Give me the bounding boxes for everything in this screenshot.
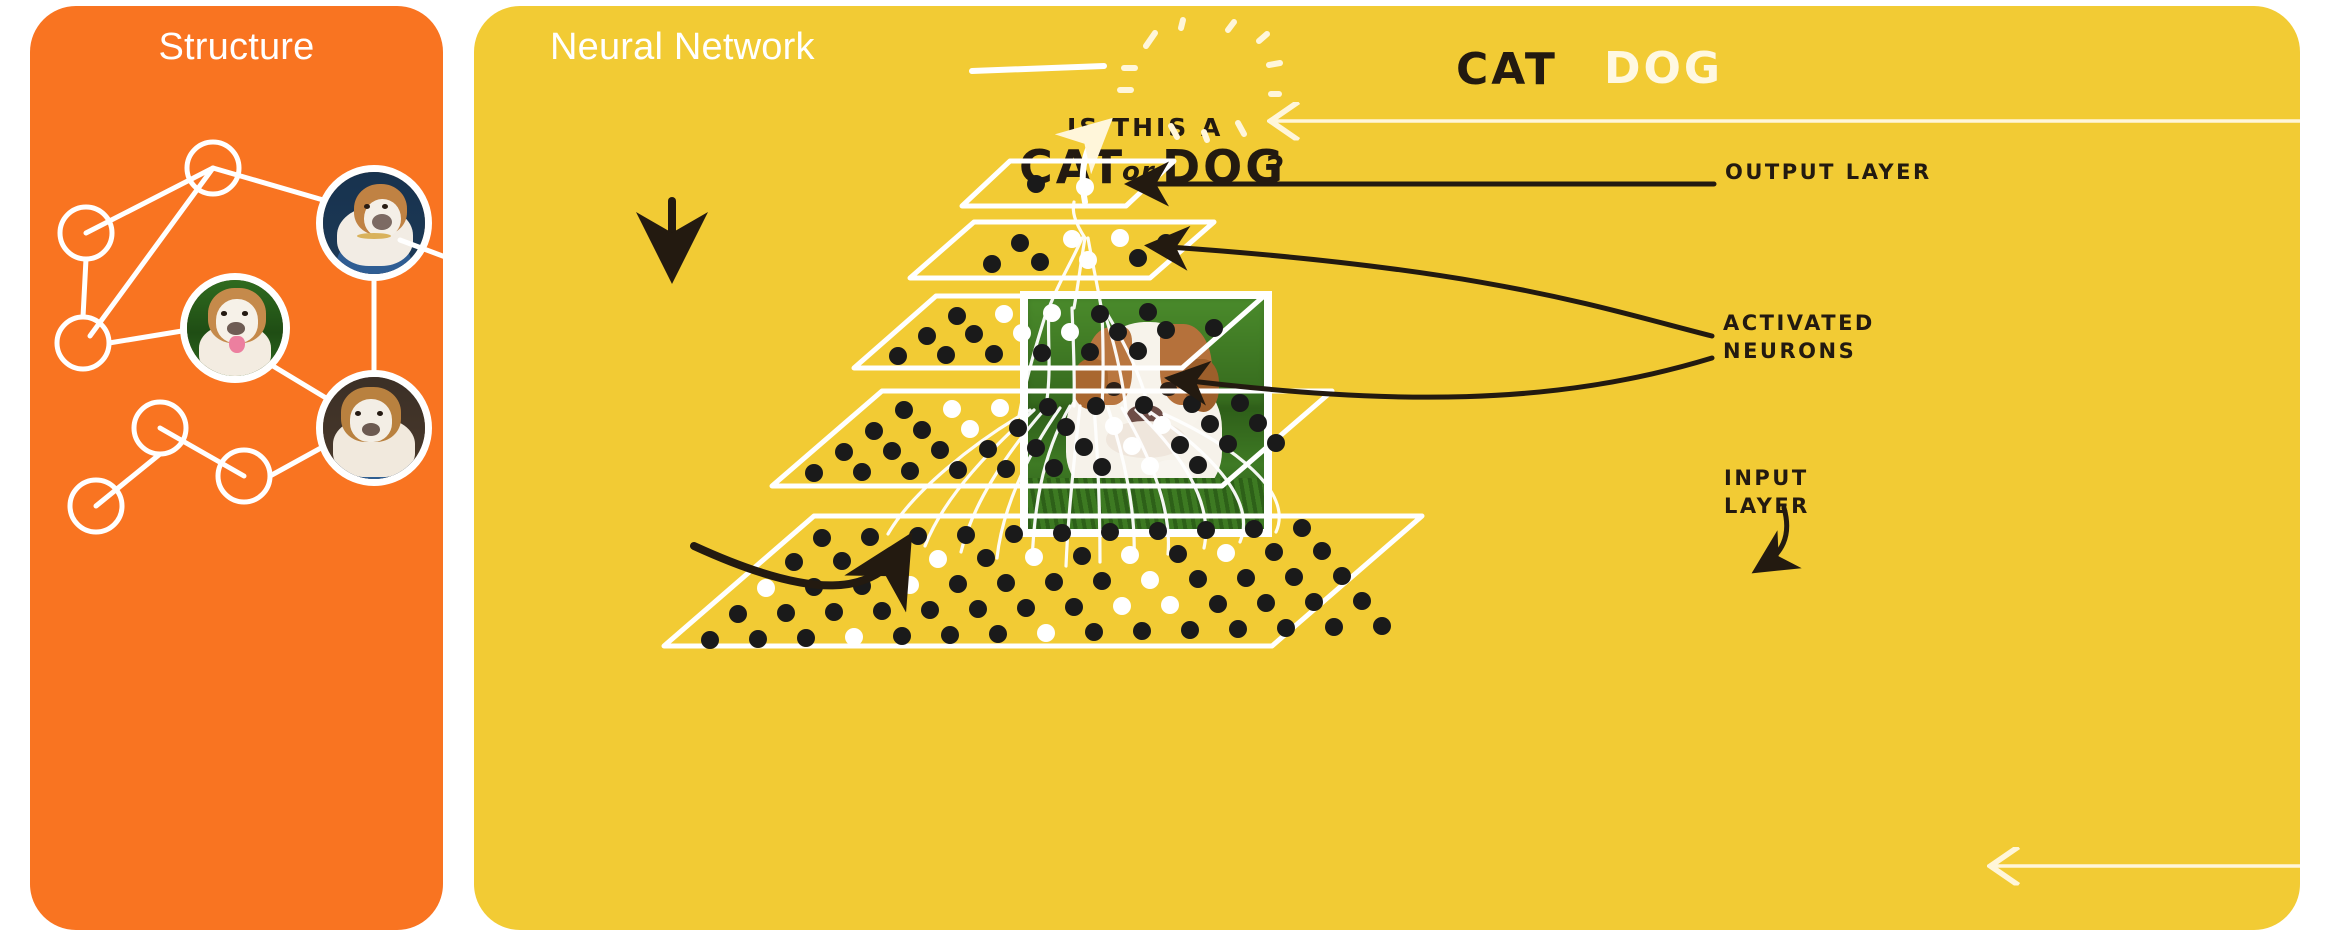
neuron-inactive[interactable] <box>1285 568 1303 586</box>
neuron-inactive[interactable] <box>901 462 919 480</box>
neuron-inactive[interactable] <box>1205 319 1223 337</box>
edge-n2-n3 <box>83 259 86 317</box>
label-input-line1: INPUT <box>1724 465 1810 493</box>
neuron-inactive[interactable] <box>1091 305 1109 323</box>
neuron-inactive[interactable] <box>1011 234 1029 252</box>
neuron-inactive[interactable] <box>1267 434 1285 452</box>
neuron-inactive[interactable] <box>1333 567 1351 585</box>
neuron-inactive[interactable] <box>701 631 719 649</box>
neuron-inactive[interactable] <box>989 625 1007 643</box>
neuron-active[interactable] <box>1153 416 1171 434</box>
neuron-active[interactable] <box>757 579 775 597</box>
neuron-active[interactable] <box>1141 457 1159 475</box>
neuron-inactive[interactable] <box>997 574 1015 592</box>
neuron-inactive[interactable] <box>1073 547 1091 565</box>
infographic-canvas: Structure <box>0 0 2330 936</box>
neuron-inactive[interactable] <box>957 526 975 544</box>
neuron-inactive[interactable] <box>1087 397 1105 415</box>
neuron-active[interactable] <box>901 576 919 594</box>
neuron-inactive[interactable] <box>1189 570 1207 588</box>
neuron-inactive[interactable] <box>918 327 936 345</box>
neuron-inactive[interactable] <box>889 347 907 365</box>
arrow-to-activated-upper <box>1154 246 1712 336</box>
neuron-inactive[interactable] <box>1245 520 1263 538</box>
neuron-inactive[interactable] <box>873 602 891 620</box>
edge-n3-dogb <box>109 331 182 343</box>
neuron-inactive[interactable] <box>1031 253 1049 271</box>
neuron-inactive[interactable] <box>1249 414 1267 432</box>
neuron-inactive[interactable] <box>835 443 853 461</box>
neuron-inactive[interactable] <box>833 552 851 570</box>
neuron-active[interactable] <box>1076 178 1094 196</box>
neuron-inactive[interactable] <box>1027 439 1045 457</box>
neuron-inactive[interactable] <box>1005 525 1023 543</box>
neuron-inactive[interactable] <box>1045 459 1063 477</box>
neuron-inactive[interactable] <box>1053 524 1071 542</box>
neuron-active[interactable] <box>1079 251 1097 269</box>
neuron-active[interactable] <box>929 550 947 568</box>
neuron-inactive[interactable] <box>921 601 939 619</box>
neuron-inactive[interactable] <box>1219 435 1237 453</box>
label-activated-line1: ACTIVATED <box>1723 310 1875 338</box>
neuron-inactive[interactable] <box>909 527 927 545</box>
neuron-inactive[interactable] <box>1373 617 1391 635</box>
neuron-inactive[interactable] <box>977 549 995 567</box>
neuron-inactive[interactable] <box>1277 619 1295 637</box>
neuron-inactive[interactable] <box>997 460 1015 478</box>
neuron-inactive[interactable] <box>948 307 966 325</box>
neuron-inactive[interactable] <box>1305 593 1323 611</box>
neuron-inactive[interactable] <box>1169 545 1187 563</box>
neuron-active[interactable] <box>1061 323 1079 341</box>
neuron-inactive[interactable] <box>1033 344 1051 362</box>
neuron-active[interactable] <box>943 400 961 418</box>
neuron-inactive[interactable] <box>861 528 879 546</box>
neuron-inactive[interactable] <box>1231 394 1249 412</box>
label-activated-neurons: ACTIVATED NEURONS <box>1723 310 1875 365</box>
neuron-active[interactable] <box>995 305 1013 323</box>
neuron-inactive[interactable] <box>1045 573 1063 591</box>
layer-plane-hidden-2[interactable] <box>854 296 1264 368</box>
neuron-inactive[interactable] <box>937 346 955 364</box>
neurons-hidden-layer-2 <box>889 303 1223 365</box>
neuron-inactive[interactable] <box>1085 623 1103 641</box>
neuron-active[interactable] <box>1123 437 1141 455</box>
neuron-active[interactable] <box>1037 624 1055 642</box>
neuron-inactive[interactable] <box>1293 519 1311 537</box>
neuron-inactive[interactable] <box>1197 521 1215 539</box>
neuron-inactive[interactable] <box>1027 175 1045 193</box>
neuron-inactive[interactable] <box>931 441 949 459</box>
neuron-inactive[interactable] <box>853 463 871 481</box>
neuron-inactive[interactable] <box>1057 418 1075 436</box>
edge-n2-n1 <box>86 168 213 233</box>
neuron-inactive[interactable] <box>1109 323 1127 341</box>
cat-strikethrough <box>972 66 1104 71</box>
dog-photo-b-scene <box>187 280 283 376</box>
structure-panel: Structure <box>30 6 443 930</box>
neuron-active[interactable] <box>1121 546 1139 564</box>
neurons-output-layer <box>1027 175 1094 196</box>
neuron-inactive[interactable] <box>1017 599 1035 617</box>
dog-photo-a-scene <box>323 172 425 274</box>
neuron-inactive[interactable] <box>1325 618 1343 636</box>
neuron-inactive[interactable] <box>1135 396 1153 414</box>
neuron-active[interactable] <box>1043 304 1061 322</box>
neuron-active[interactable] <box>1161 596 1179 614</box>
neuron-inactive[interactable] <box>1189 456 1207 474</box>
neuron-inactive[interactable] <box>883 442 901 460</box>
neuron-inactive[interactable] <box>1133 622 1151 640</box>
neuron-inactive[interactable] <box>797 629 815 647</box>
neuron-active[interactable] <box>1111 229 1129 247</box>
neuron-inactive[interactable] <box>1075 438 1093 456</box>
neuron-active[interactable] <box>1217 544 1235 562</box>
neural-network-diagram <box>474 6 2300 930</box>
neuron-active[interactable] <box>1141 571 1159 589</box>
neuron-inactive[interactable] <box>913 421 931 439</box>
neuron-inactive[interactable] <box>1229 620 1247 638</box>
neuron-inactive[interactable] <box>729 605 747 623</box>
neuron-inactive[interactable] <box>805 464 823 482</box>
neuron-inactive[interactable] <box>893 627 911 645</box>
dog-sparkles <box>1120 20 1280 140</box>
neuron-inactive[interactable] <box>1181 621 1199 639</box>
neuron-inactive[interactable] <box>979 440 997 458</box>
neuron-inactive[interactable] <box>785 553 803 571</box>
neuron-inactive[interactable] <box>969 600 987 618</box>
graph-photo-node-bulldog-grass[interactable] <box>180 273 290 383</box>
neuron-inactive[interactable] <box>1039 398 1057 416</box>
graph-photo-node-bulldog-held[interactable] <box>316 370 432 486</box>
neuron-inactive[interactable] <box>1009 419 1027 437</box>
neuron-inactive[interactable] <box>1139 303 1157 321</box>
neuron-inactive[interactable] <box>1149 522 1167 540</box>
neuron-inactive[interactable] <box>1201 415 1219 433</box>
neuron-inactive[interactable] <box>1257 594 1275 612</box>
neuron-inactive[interactable] <box>941 626 959 644</box>
neuron-inactive[interactable] <box>1093 572 1111 590</box>
neuron-inactive[interactable] <box>1183 395 1201 413</box>
neuron-inactive[interactable] <box>1171 436 1189 454</box>
neuron-inactive[interactable] <box>1209 595 1227 613</box>
neuron-inactive[interactable] <box>1129 342 1147 360</box>
neuron-inactive[interactable] <box>1081 343 1099 361</box>
label-output-layer: OUTPUT LAYER <box>1725 159 1932 187</box>
neuron-inactive[interactable] <box>985 345 1003 363</box>
neuron-active[interactable] <box>1025 548 1043 566</box>
neuron-active[interactable] <box>1013 324 1031 342</box>
neuron-inactive[interactable] <box>983 255 1001 273</box>
neuron-inactive[interactable] <box>825 603 843 621</box>
label-input-line2: LAYER <box>1724 493 1810 521</box>
neuron-active[interactable] <box>1105 417 1123 435</box>
neuron-inactive[interactable] <box>965 325 983 343</box>
neuron-inactive[interactable] <box>865 422 883 440</box>
neuron-inactive[interactable] <box>1237 569 1255 587</box>
label-output-layer-text: OUTPUT LAYER <box>1725 159 1932 187</box>
neuron-inactive[interactable] <box>749 630 767 648</box>
neuron-active[interactable] <box>845 628 863 646</box>
neuron-inactive[interactable] <box>1313 542 1331 560</box>
label-input-layer: INPUT LAYER <box>1724 465 1810 520</box>
neuron-active[interactable] <box>991 399 1009 417</box>
neuron-inactive[interactable] <box>895 401 913 419</box>
neuron-inactive[interactable] <box>949 461 967 479</box>
neuron-inactive[interactable] <box>1353 592 1371 610</box>
neuron-inactive[interactable] <box>1265 543 1283 561</box>
neuron-inactive[interactable] <box>1101 523 1119 541</box>
neuron-active[interactable] <box>961 420 979 438</box>
label-activated-line2: NEURONS <box>1723 338 1875 366</box>
neuron-active[interactable] <box>1063 230 1081 248</box>
neuron-inactive[interactable] <box>1129 249 1147 267</box>
neuron-inactive[interactable] <box>1093 458 1111 476</box>
neuron-inactive[interactable] <box>777 604 795 622</box>
neuron-inactive[interactable] <box>1157 321 1175 339</box>
graph-node-3[interactable] <box>57 317 109 369</box>
neuron-inactive[interactable] <box>813 529 831 547</box>
dog-photo-c-scene <box>323 377 425 479</box>
neuron-inactive[interactable] <box>1065 598 1083 616</box>
neural-network-panel: Neural Network IS THIS A CAT or DOG ? CA… <box>474 6 2300 930</box>
neuron-active[interactable] <box>1113 597 1131 615</box>
neuron-inactive[interactable] <box>949 575 967 593</box>
graph-photo-node-show-dog[interactable] <box>316 165 432 281</box>
